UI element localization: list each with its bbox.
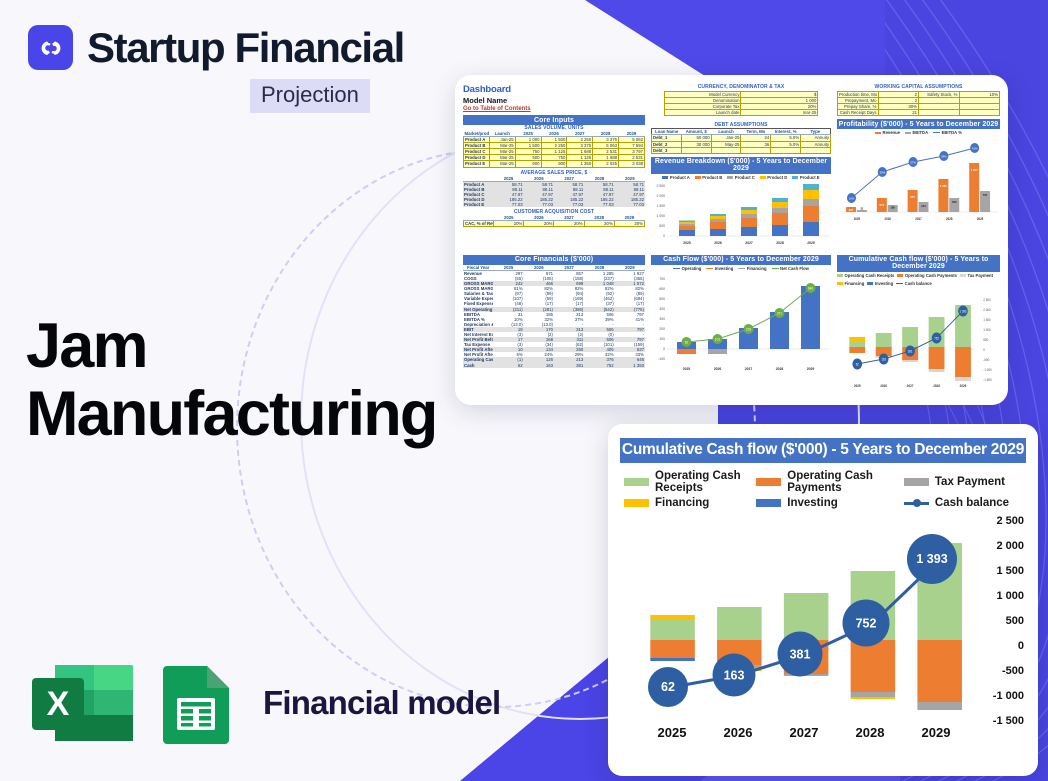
legend-item: Operating <box>673 266 701 271</box>
svg-text:2025: 2025 <box>854 384 861 388</box>
svg-text:2 000: 2 000 <box>983 308 991 312</box>
svg-text:101: 101 <box>715 337 721 341</box>
revenue-breakdown-title: Revenue Breakdown ($'000) - 5 Years to D… <box>651 157 831 174</box>
svg-text:500: 500 <box>659 297 665 301</box>
cash-flow-block: Cash Flow ($'000) - 5 Years to December … <box>651 252 831 391</box>
col-market-product: Market/product <box>464 131 490 137</box>
y-tick: 2 000 <box>996 540 1024 552</box>
legend-item: Product D <box>760 175 788 180</box>
legend-item-cash-balance: Cash balance <box>904 497 1022 509</box>
y-tick: 2 500 <box>996 515 1024 527</box>
sales-volume-table: Market/product Launch 2025 2026 2027 202… <box>463 131 645 168</box>
debt-table: Loan Name Amount, $ Launch Term, Mo Inte… <box>651 128 831 153</box>
svg-text:700: 700 <box>659 277 665 281</box>
x-tick: 2029 <box>922 725 951 740</box>
legend-label: Investing <box>787 497 837 509</box>
average-price-table: 2025 2026 2027 2028 2029 Product A 58.71… <box>463 176 645 208</box>
legend-item: Financing <box>738 266 766 271</box>
footer-formats: X Financial model <box>30 662 500 744</box>
svg-text:1 393: 1 393 <box>959 309 966 313</box>
legend-item: Financing <box>837 281 864 286</box>
microsoft-excel-icon: X <box>30 663 135 743</box>
svg-text:2 500: 2 500 <box>657 184 666 188</box>
svg-text:2029: 2029 <box>807 367 815 371</box>
chart-legend: Operating Cash Receipts Operating Cash P… <box>620 470 1026 509</box>
page-title: Jam Manufacturing <box>26 312 437 448</box>
legend-label: Operating Cash Payments <box>787 470 904 494</box>
svg-text:2026: 2026 <box>884 217 891 221</box>
data-label-2029: 1 393 <box>907 534 957 584</box>
svg-text:371: 371 <box>777 311 783 315</box>
table-row: Product E 77.03 77.03 77.03 77.03 77.03 <box>463 202 645 207</box>
svg-text:2026: 2026 <box>714 367 722 371</box>
x-axis: 2025 2026 2027 2028 2029 <box>624 725 968 745</box>
svg-text:2025: 2025 <box>683 367 691 371</box>
bar-segment <box>851 697 896 699</box>
cumulative-cash-flow-card: Cumulative Cash flow ($'000) - 5 Years t… <box>608 424 1038 776</box>
legend-item: Cash balance <box>896 281 932 286</box>
chart-title: Cumulative Cash flow ($'000) - 5 Years t… <box>620 438 1026 463</box>
legend-item: Net Cash Flow <box>772 266 809 271</box>
svg-text:62: 62 <box>685 340 689 344</box>
cumulative-mini-block: Cumulative Cash flow ($'000) - 5 Years t… <box>837 252 1000 391</box>
svg-text:2027: 2027 <box>745 367 753 371</box>
svg-text:2 500: 2 500 <box>983 298 991 302</box>
table-row: Debt_3 <box>652 147 831 153</box>
data-label-2026: 163 <box>713 654 756 697</box>
svg-text:62: 62 <box>856 362 859 366</box>
svg-text:500: 500 <box>659 224 665 228</box>
svg-text:2026: 2026 <box>880 384 887 388</box>
svg-text:2029: 2029 <box>960 384 967 388</box>
legend-item: Tax Payment <box>960 273 993 278</box>
svg-text:10%: 10% <box>849 197 855 201</box>
svg-text:313: 313 <box>921 204 926 208</box>
revenue-breakdown-legend: Product A Product B Product C Product D … <box>651 175 831 180</box>
svg-text:752: 752 <box>934 336 939 340</box>
svg-text:31: 31 <box>860 207 863 211</box>
table-row: Product E Mar-25 600 900 1 350 2 025 3 0… <box>464 161 645 167</box>
legend-item-tax-payment: Tax Payment <box>904 470 1022 494</box>
core-financials-block: Core Financials ($'000) Fiscal Year 2025… <box>463 252 645 391</box>
dashboard-middle-column: CURRENCY, DENOMINATOR & TAX Model Curren… <box>651 84 831 249</box>
legend-item: Operating Cash Receipts <box>837 273 894 278</box>
cumulative-mini-chart: 2 5002 000 1 5001 000 5000 -500-1 000 -1… <box>837 287 1000 391</box>
svg-text:2025: 2025 <box>683 241 691 245</box>
dashboard-top-row: Dashboard Model Name Go to Table of Cont… <box>463 84 1000 249</box>
svg-text:506: 506 <box>952 200 957 204</box>
legend-label: Financing <box>655 497 709 509</box>
svg-text:0: 0 <box>663 347 665 351</box>
dashboard-bottom-row: Core Financials ($'000) Fiscal Year 2025… <box>463 252 1000 391</box>
legend-item: EBITDA <box>905 130 928 135</box>
dashboard-toc-link[interactable]: Go to Table of Contents <box>463 106 645 112</box>
revenue-breakdown-chart: 2 500 2 000 1 500 1 000 500 0 <box>651 181 831 249</box>
profitability-chart: 10% 32% 37% 39% 41% 297571 8571 285 1 92… <box>837 136 1000 224</box>
svg-text:2025: 2025 <box>854 217 861 221</box>
profitability-legend: Revenue EBITDA EBITDA % <box>837 130 1000 135</box>
bar-segment <box>650 615 695 620</box>
svg-text:37%: 37% <box>910 161 916 165</box>
bar-segment <box>650 658 695 661</box>
svg-text:X: X <box>47 685 70 723</box>
svg-text:-1 000: -1 000 <box>983 368 992 372</box>
svg-text:2027: 2027 <box>745 241 753 245</box>
svg-text:297: 297 <box>849 208 854 212</box>
bar-segment <box>851 692 896 697</box>
brand-header: Startup Financial Projection <box>28 25 404 113</box>
legend-item-financing: Financing <box>624 497 756 509</box>
svg-text:1 000: 1 000 <box>983 328 991 332</box>
svg-text:797: 797 <box>983 193 988 197</box>
data-label-2025: 62 <box>648 667 688 707</box>
legend-item-operating-cash-payments: Operating Cash Payments <box>756 470 904 494</box>
svg-text:0: 0 <box>663 234 665 238</box>
svg-text:1 927: 1 927 <box>971 168 978 172</box>
svg-text:640: 640 <box>808 286 814 290</box>
legend-item-operating-cash-receipts: Operating Cash Receipts <box>624 470 756 494</box>
y-axis: 2 500 2 000 1 500 1 000 500 0 -500 -1 00… <box>972 515 1026 713</box>
table-row: CAC, % of Revenue 20% 20% 20% 20% 20% <box>464 221 645 227</box>
bar-segment <box>717 607 762 640</box>
svg-text:2026: 2026 <box>714 241 722 245</box>
dashboard-preview-card: Dashboard Model Name Go to Table of Cont… <box>455 75 1008 405</box>
data-label-2027: 381 <box>778 632 823 677</box>
svg-text:2028: 2028 <box>933 384 940 388</box>
brand-title: Startup Financial <box>87 27 404 69</box>
legend-item: Product C <box>727 175 755 180</box>
svg-text:185: 185 <box>890 206 895 210</box>
currency-table: Model Currency $ Denomination 1 000 Corp… <box>664 91 819 116</box>
bar-segment <box>917 640 962 702</box>
legend-item: EBITDA % <box>933 130 962 135</box>
x-tick: 2028 <box>856 725 885 740</box>
svg-text:32%: 32% <box>879 171 885 175</box>
cac-table: 2025 2026 2027 2028 2029 CAC, % of Reven… <box>463 215 645 227</box>
svg-text:-1 500: -1 500 <box>983 378 992 382</box>
dashboard-right-column: WORKING CAPITAL ASSUMPTIONS Production t… <box>837 84 1000 249</box>
dashboard-left-column: Dashboard Model Name Go to Table of Cont… <box>463 84 645 249</box>
page-title-line-2: Manufacturing <box>26 380 437 448</box>
profitability-title: Profitability ($'000) - 5 Years to Decem… <box>837 119 1000 129</box>
svg-text:2028: 2028 <box>776 367 784 371</box>
dashboard-model-name: Model Name <box>463 96 645 105</box>
chart-plot-area: 2 500 2 000 1 500 1 000 500 0 -500 -1 00… <box>620 515 1026 751</box>
bar-segment <box>851 640 896 692</box>
cash-flow-legend: Operating Investing Financing Net Cash F… <box>651 266 831 271</box>
svg-text:-500: -500 <box>983 358 989 362</box>
legend-item: Revenue <box>875 130 900 135</box>
svg-text:1 000: 1 000 <box>657 214 666 218</box>
y-tick: -1 000 <box>993 690 1024 702</box>
cash-flow-title: Cash Flow ($'000) - 5 Years to December … <box>651 255 831 265</box>
legend-item: Operating Cash Payments <box>897 273 957 278</box>
svg-text:600: 600 <box>659 287 665 291</box>
bar-segment <box>650 640 695 658</box>
legend-label: Cash balance <box>935 497 1009 509</box>
svg-text:2029: 2029 <box>977 217 984 221</box>
svg-text:381: 381 <box>908 349 913 353</box>
svg-text:200: 200 <box>659 327 665 331</box>
cash-flow-chart: 700600 500400 300200 1000 -100 <box>651 272 831 376</box>
infinity-loop-icon <box>28 25 73 70</box>
cumulative-mini-legend: Operating Cash Receipts Operating Cash P… <box>837 273 1000 286</box>
legend-item: Investing <box>867 281 893 286</box>
brand-row: Startup Financial <box>28 25 404 70</box>
svg-text:2028: 2028 <box>776 241 784 245</box>
svg-text:2027: 2027 <box>915 217 922 221</box>
legend-item: Product E <box>792 175 819 180</box>
y-tick: 500 <box>1006 615 1024 627</box>
legend-item: Investing <box>706 266 733 271</box>
y-tick: 1 000 <box>996 590 1024 602</box>
svg-text:2 000: 2 000 <box>657 194 666 198</box>
working-capital-caption: WORKING CAPITAL ASSUMPTIONS <box>837 84 1000 90</box>
svg-text:857: 857 <box>910 195 915 199</box>
dashboard-heading: Dashboard <box>463 84 645 95</box>
legend-item: Product B <box>695 175 723 180</box>
table-row: Cash621633817521 393 <box>463 363 645 368</box>
svg-text:2027: 2027 <box>907 384 914 388</box>
google-sheets-icon <box>157 662 235 744</box>
working-capital-table: Production time, Mo 2 Safety Stock, % 10… <box>837 91 1000 116</box>
cumulative-mini-title: Cumulative Cash flow ($'000) - 5 Years t… <box>837 255 1000 272</box>
svg-text:1 285: 1 285 <box>940 184 947 188</box>
svg-text:1 500: 1 500 <box>983 318 991 322</box>
svg-text:100: 100 <box>659 337 665 341</box>
svg-text:300: 300 <box>659 317 665 321</box>
footer-label: Financial model <box>263 684 500 722</box>
bar-segment <box>650 620 695 640</box>
svg-text:-100: -100 <box>658 357 665 361</box>
y-tick: -1 500 <box>993 715 1024 727</box>
core-inputs-band: Core Inputs <box>463 115 645 125</box>
legend-label: Operating Cash Receipts <box>655 470 756 494</box>
table-row: Cash Receipt Days 21 <box>838 110 1000 116</box>
svg-text:39%: 39% <box>941 155 947 159</box>
data-label-2028: 752 <box>843 600 890 647</box>
y-tick: 1 500 <box>996 565 1024 577</box>
legend-item-investing: Investing <box>756 497 904 509</box>
legend-item: Product A <box>662 175 689 180</box>
bar-segment <box>917 702 962 710</box>
core-financials-band: Core Financials ($'000) <box>463 255 645 265</box>
core-financials-table: Fiscal Year 2025 2026 2027 2028 2029 Rev… <box>463 265 645 368</box>
svg-text:0: 0 <box>983 348 985 352</box>
brand-subtitle-badge: Projection <box>250 79 370 113</box>
svg-text:41%: 41% <box>972 147 978 151</box>
svg-text:218: 218 <box>746 327 752 331</box>
x-tick: 2027 <box>790 725 819 740</box>
svg-text:163: 163 <box>881 357 886 361</box>
svg-text:1 500: 1 500 <box>657 204 666 208</box>
page-title-line-1: Jam <box>26 312 437 380</box>
legend-label: Tax Payment <box>935 476 1005 488</box>
y-tick: 0 <box>1018 640 1024 652</box>
svg-text:2029: 2029 <box>807 241 815 245</box>
svg-text:400: 400 <box>659 307 665 311</box>
y-tick: -500 <box>1002 665 1024 677</box>
currency-caption: CURRENCY, DENOMINATOR & TAX <box>651 84 831 90</box>
svg-text:571: 571 <box>880 203 885 207</box>
table-row: Launch date mar-25 <box>664 110 818 116</box>
svg-text:500: 500 <box>983 338 988 342</box>
x-tick: 2025 <box>658 725 687 740</box>
svg-text:2028: 2028 <box>946 217 953 221</box>
x-tick: 2026 <box>724 725 753 740</box>
